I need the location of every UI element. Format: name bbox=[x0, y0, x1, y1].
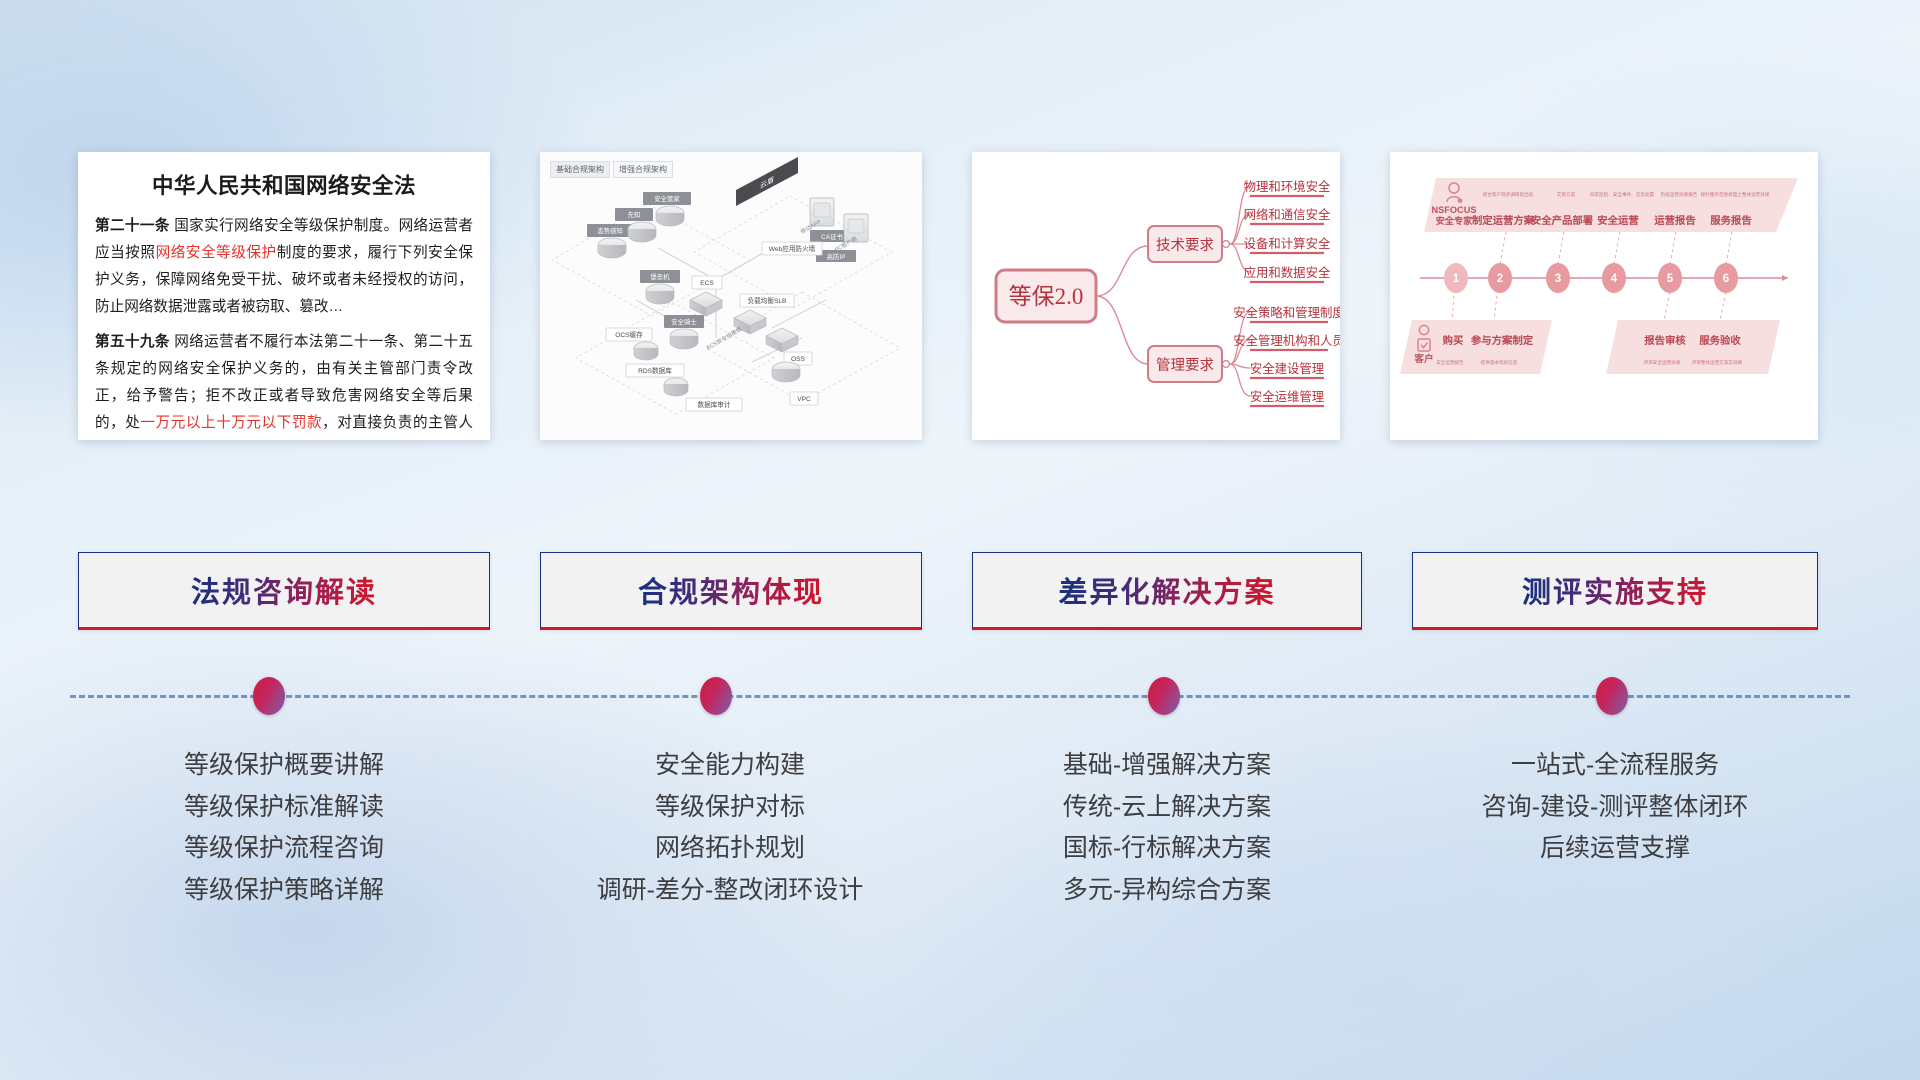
preview-card-timeline: NSFOCUS 安全专家 客户 bbox=[1390, 152, 1818, 440]
rail-dot-2 bbox=[700, 677, 732, 715]
rail-dot-3 bbox=[1148, 677, 1180, 715]
law-title: 中华人民共和国网络安全法 bbox=[95, 169, 473, 200]
list-item: 后续运营支撑 bbox=[1392, 828, 1838, 870]
law-paragraph-21: 第二十一条 国家实行网络安全等级保护制度。网络运营者应当按照网络安全等级保护制度… bbox=[95, 213, 473, 322]
svg-text:3: 3 bbox=[1555, 273, 1561, 285]
law-highlight-text: 网络安全等级保护 bbox=[156, 245, 277, 261]
section-title-box-2[interactable]: 合规架构体现 bbox=[540, 552, 922, 630]
svg-text:Web应用防火墙: Web应用防火墙 bbox=[769, 244, 816, 253]
svg-text:安全产品部署: 安全产品部署 bbox=[1531, 214, 1594, 227]
mindmap-root: 等保2.0 bbox=[996, 270, 1096, 322]
svg-text:参与方案制定: 参与方案制定 bbox=[1471, 334, 1534, 347]
section-title-label: 法规咨询解读 bbox=[191, 569, 377, 611]
list-item: 一站式-全流程服务 bbox=[1392, 745, 1838, 787]
list-item: 调研-差分-整改闭环设计 bbox=[510, 870, 950, 912]
list-item: 网络拓扑规划 bbox=[510, 828, 950, 870]
svg-text:网络和通信安全: 网络和通信安全 bbox=[1244, 207, 1331, 222]
preview-card-mindmap: 等保2.0 技术要求 管理要求 bbox=[972, 152, 1340, 440]
rail-dot-4 bbox=[1596, 677, 1628, 715]
svg-text:安全建设管理: 安全建设管理 bbox=[1250, 361, 1324, 376]
svg-text:ECS: ECS bbox=[700, 280, 714, 287]
svg-text:物理和环境安全: 物理和环境安全 bbox=[1244, 179, 1331, 194]
list-item: 等级保护策略详解 bbox=[78, 870, 490, 912]
section-title-box-3[interactable]: 差异化解决方案 bbox=[972, 552, 1362, 630]
svg-text:运营报告: 运营报告 bbox=[1654, 214, 1696, 227]
architecture-diagram: 云盾 态势感知 先知 安全管家 堡垒机 安全骑士 CA证书 高防IP ECS O… bbox=[540, 152, 922, 440]
list-item: 基础-增强解决方案 bbox=[952, 745, 1382, 787]
svg-text:制定运营方案: 制定运营方案 bbox=[1472, 214, 1535, 227]
list-item: 传统-云上解决方案 bbox=[952, 787, 1382, 829]
svg-text:等保2.0: 等保2.0 bbox=[1009, 284, 1084, 309]
svg-text:评审安全运营效果: 评审安全运营效果 bbox=[1644, 359, 1681, 366]
preview-card-law: 中华人民共和国网络安全法 第二十一条 国家实行网络安全等级保护制度。网络运营者应… bbox=[78, 152, 490, 440]
mindmap-branch-mgmt: 管理要求 bbox=[1148, 346, 1229, 382]
svg-text:实施方案: 实施方案 bbox=[1557, 191, 1576, 198]
svg-text:评审整体运营方案实效果: 评审整体运营方案实效果 bbox=[1692, 359, 1743, 366]
svg-text:提供基本现状信息: 提供基本现状信息 bbox=[1481, 359, 1518, 366]
svg-text:管理要求: 管理要求 bbox=[1156, 357, 1214, 374]
svg-text:6: 6 bbox=[1723, 273, 1729, 285]
mindmap-branch-tech: 技术要求 bbox=[1148, 226, 1229, 262]
svg-text:RDS数据库: RDS数据库 bbox=[638, 366, 672, 375]
svg-text:堡垒机: 堡垒机 bbox=[650, 272, 670, 281]
column-list-3: 基础-增强解决方案 传统-云上解决方案 国标-行标解决方案 多元-异构综合方案 bbox=[952, 745, 1382, 911]
svg-text:安全管家: 安全管家 bbox=[654, 194, 680, 203]
svg-text:服务验收: 服务验收 bbox=[1699, 334, 1741, 347]
section-title-label: 差异化解决方案 bbox=[1058, 569, 1275, 611]
law-highlight-text: 一万元以上十万元以下罚款 bbox=[140, 415, 322, 431]
list-item: 咨询-建设-测评整体闭环 bbox=[1392, 787, 1838, 829]
section-title-label: 合规架构体现 bbox=[638, 569, 824, 611]
svg-text:安全管理机构和人员: 安全管理机构和人员 bbox=[1233, 333, 1340, 348]
svg-text:2: 2 bbox=[1497, 273, 1503, 285]
svg-text:服务报告: 服务报告 bbox=[1710, 214, 1752, 227]
svg-text:数据库审计: 数据库审计 bbox=[698, 400, 731, 409]
law-article-number: 第五十九条 bbox=[95, 334, 170, 350]
svg-text:按时服务范围梳理之整体运营效果: 按时服务范围梳理之整体运营效果 bbox=[1701, 191, 1770, 198]
svg-text:NSFOCUS: NSFOCUS bbox=[1432, 205, 1477, 215]
list-item: 等级保护流程咨询 bbox=[78, 828, 490, 870]
svg-text:应用和数据安全: 应用和数据安全 bbox=[1244, 265, 1331, 280]
svg-text:报告审核: 报告审核 bbox=[1644, 334, 1686, 347]
rail-dot-1 bbox=[253, 677, 285, 715]
svg-text:安全运营: 安全运营 bbox=[1597, 214, 1639, 227]
svg-text:态势感知: 态势感知 bbox=[597, 226, 623, 235]
svg-text:OSS: OSS bbox=[791, 356, 806, 363]
svg-text:安全运营报告: 安全运营报告 bbox=[1436, 359, 1464, 366]
svg-text:设备和计算安全: 设备和计算安全 bbox=[1244, 236, 1331, 251]
svg-text:5: 5 bbox=[1667, 273, 1674, 285]
list-item: 等级保护概要讲解 bbox=[78, 745, 490, 787]
svg-text:日常巡检、安全事件、应急处置: 日常巡检、安全事件、应急处置 bbox=[1590, 191, 1655, 198]
svg-text:安全骑士: 安全骑士 bbox=[671, 317, 697, 326]
section-title-box-1[interactable]: 法规咨询解读 bbox=[78, 552, 490, 630]
svg-text:ECS安全组策略: ECS安全组策略 bbox=[705, 325, 744, 352]
svg-text:1: 1 bbox=[1453, 273, 1460, 285]
svg-text:OCS缓存: OCS缓存 bbox=[615, 330, 643, 339]
svg-text:安全策略和管理制度: 安全策略和管理制度 bbox=[1233, 305, 1340, 320]
preview-card-architecture: 基础合规架构 增强合规架构 bbox=[540, 152, 922, 440]
column-list-1: 等级保护概要讲解 等级保护标准解读 等级保护流程咨询 等级保护策略详解 bbox=[78, 745, 490, 911]
section-title-label: 测评实施支持 bbox=[1522, 569, 1708, 611]
svg-text:负载均衡SLB: 负载均衡SLB bbox=[748, 296, 787, 305]
law-paragraph-59: 第五十九条 网络运营者不履行本法第二十一条、第二十五条规定的网络安全保护义务的，… bbox=[95, 329, 473, 440]
list-item: 安全能力构建 bbox=[510, 745, 950, 787]
svg-text:技术要求: 技术要求 bbox=[1156, 237, 1214, 254]
svg-text:4: 4 bbox=[1611, 273, 1618, 285]
law-article-number: 第二十一条 bbox=[95, 218, 170, 234]
column-list-4: 一站式-全流程服务 咨询-建设-测评整体闭环 后续运营支撑 bbox=[1392, 745, 1838, 870]
list-item: 等级保护对标 bbox=[510, 787, 950, 829]
svg-text:VPC: VPC bbox=[797, 396, 811, 403]
list-item: 国标-行标解决方案 bbox=[952, 828, 1382, 870]
slide-canvas: 中华人民共和国网络安全法 第二十一条 国家实行网络安全等级保护制度。网络运营者应… bbox=[0, 0, 1920, 1080]
list-item: 等级保护标准解读 bbox=[78, 787, 490, 829]
svg-text:阶段运营效果报告: 阶段运营效果报告 bbox=[1661, 191, 1698, 198]
svg-text:结合客户现状调研后出具: 结合客户现状调研后出具 bbox=[1483, 191, 1534, 198]
svg-text:先知: 先知 bbox=[628, 210, 641, 219]
svg-text:安全运维管理: 安全运维管理 bbox=[1250, 389, 1324, 404]
svg-text:CA证书: CA证书 bbox=[821, 232, 843, 241]
section-title-box-4[interactable]: 测评实施支持 bbox=[1412, 552, 1818, 630]
mindmap-diagram: 等保2.0 技术要求 管理要求 bbox=[972, 152, 1340, 440]
timeline-diagram: NSFOCUS 安全专家 客户 bbox=[1390, 152, 1818, 440]
timeline-rail bbox=[70, 695, 1850, 698]
column-list-2: 安全能力构建 等级保护对标 网络拓扑规划 调研-差分-整改闭环设计 bbox=[510, 745, 950, 911]
svg-text:客户: 客户 bbox=[1413, 353, 1433, 365]
list-item: 多元-异构综合方案 bbox=[952, 870, 1382, 912]
svg-text:安全专家: 安全专家 bbox=[1436, 215, 1474, 226]
svg-text:购买: 购买 bbox=[1443, 334, 1464, 347]
